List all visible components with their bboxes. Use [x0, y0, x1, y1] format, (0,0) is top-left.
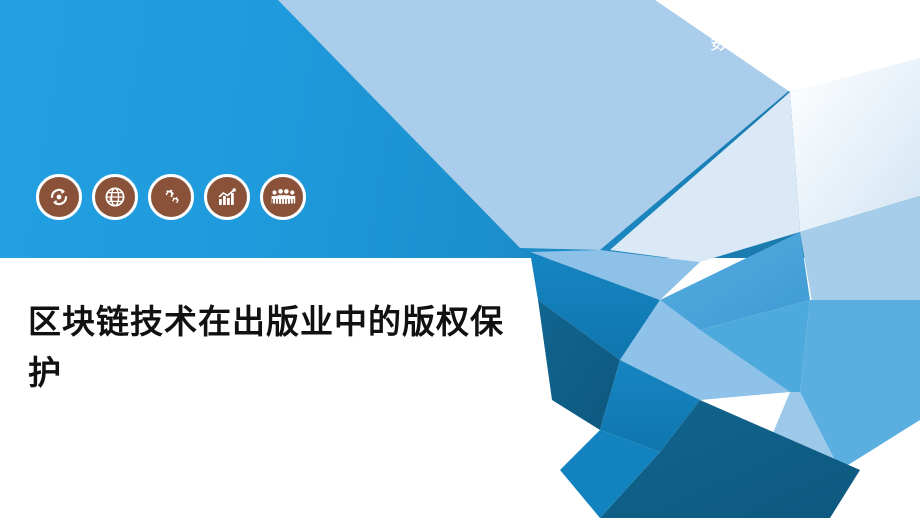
- gears-icon[interactable]: [148, 174, 194, 220]
- icon-badge-row: [36, 174, 306, 220]
- slide-tagline: 数智创新 变革未来: [710, 26, 902, 56]
- team-group-icon[interactable]: [260, 174, 306, 220]
- bar-chart-icon[interactable]: [204, 174, 250, 220]
- polygon-decoration-artwork: [0, 0, 920, 518]
- presentation-slide: 数智创新 变革未来: [0, 0, 920, 518]
- globe-icon[interactable]: [92, 174, 138, 220]
- page-title: 区块链技术在出版业中的版权保护: [28, 296, 528, 398]
- refresh-cycle-icon[interactable]: [36, 174, 82, 220]
